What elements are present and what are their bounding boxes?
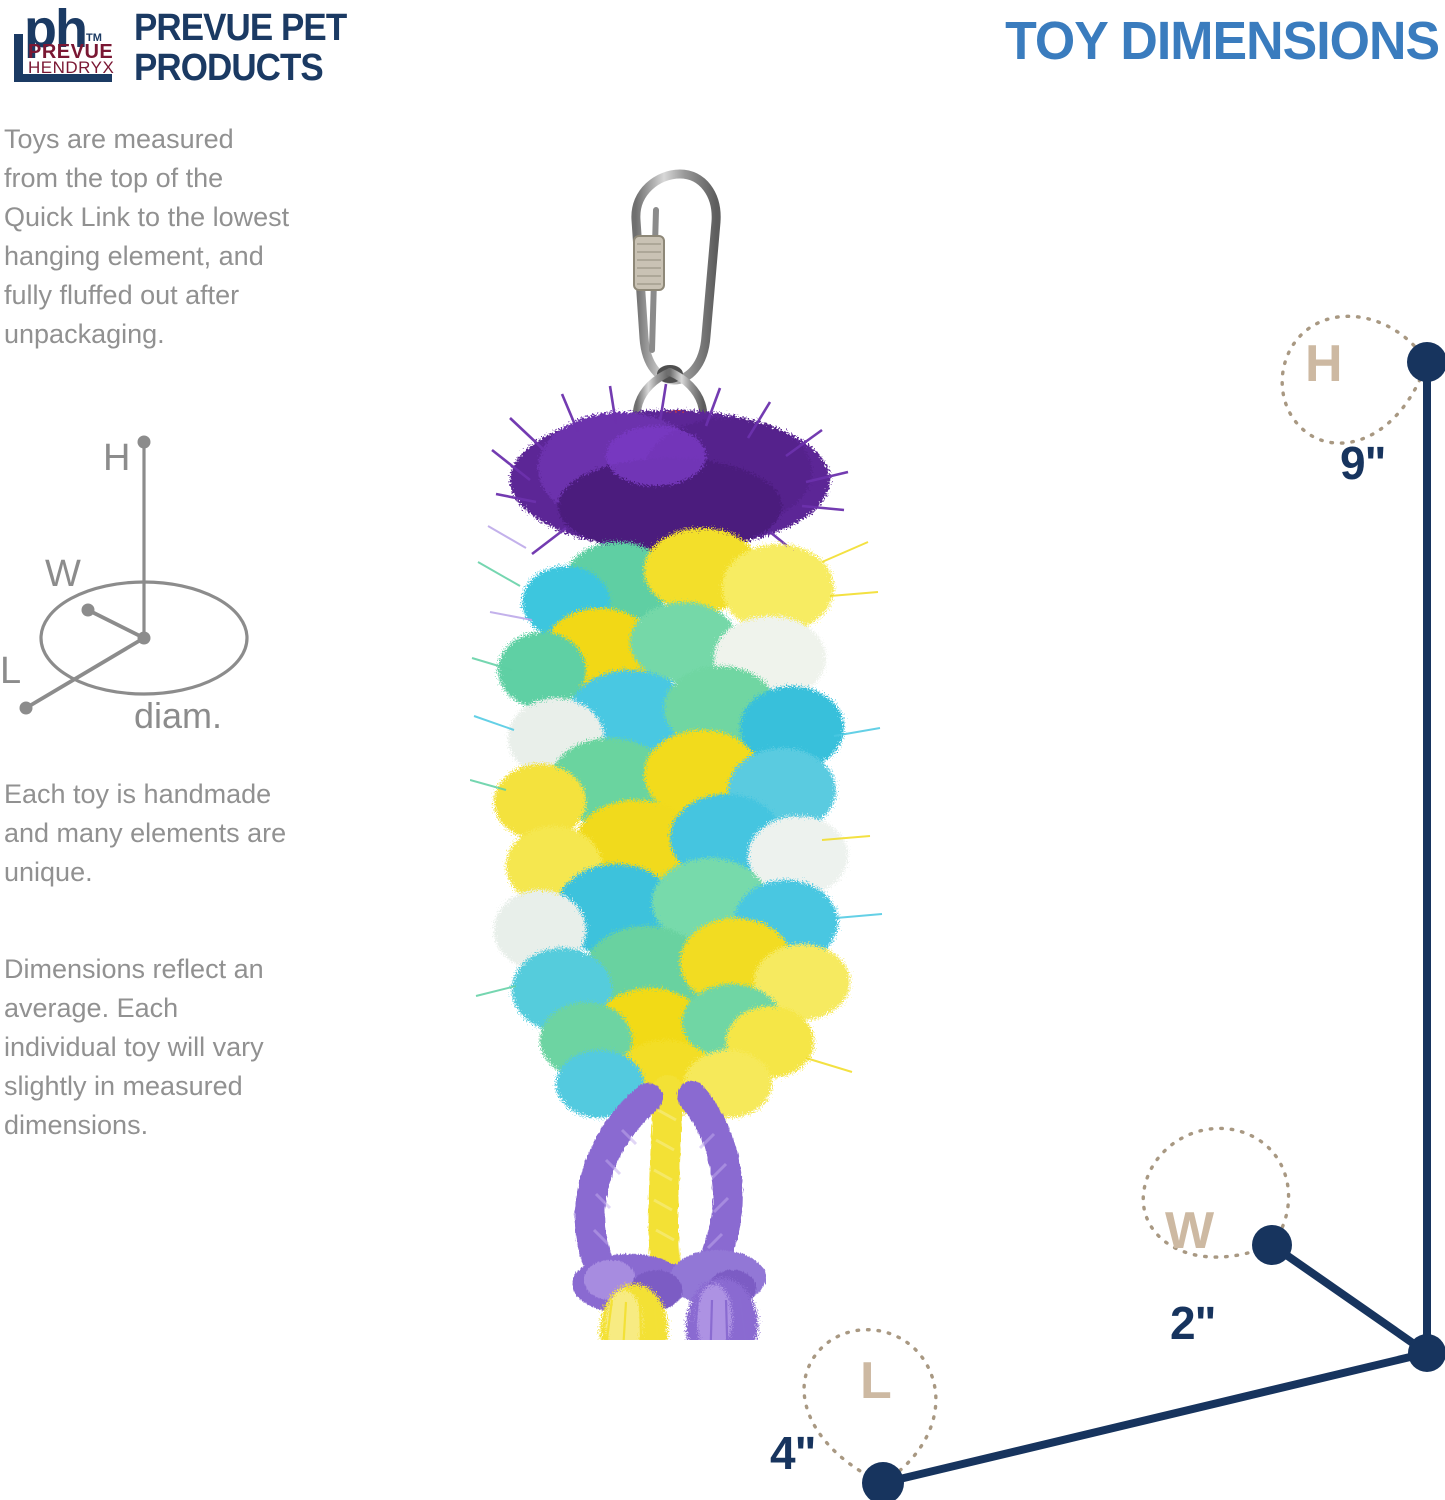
height-pin-outline xyxy=(1282,316,1427,443)
length-value: 4" xyxy=(770,1430,815,1476)
schematic-height-endpoint xyxy=(138,436,151,449)
yellow-rope xyxy=(663,1090,668,1270)
brand-name-line2: PRODUCTS xyxy=(134,48,346,88)
dimension-diagram: H W L 9" 2" 4" xyxy=(700,280,1445,1500)
width-endpoint-dot xyxy=(1252,1225,1292,1265)
handmade-note: Each toy is handmade and many elements a… xyxy=(0,775,292,892)
schematic-label-diam: diam. xyxy=(134,695,222,736)
logo-hendryx-text: HENDRYX xyxy=(28,59,114,76)
hwl-schematic-diagram: H W L diam. xyxy=(0,420,280,740)
schematic-origin-point xyxy=(138,632,151,645)
width-pin-letter: W xyxy=(1165,1205,1214,1257)
schematic-width-endpoint xyxy=(82,604,95,617)
length-line xyxy=(883,1353,1427,1483)
schematic-length-endpoint xyxy=(20,702,33,715)
height-endpoint-dot xyxy=(1407,342,1445,382)
corner-vertex-dot xyxy=(1408,1334,1445,1372)
header: ph TM PREVUE HENDRYX PREVUE PET PRODUCTS… xyxy=(0,0,1445,100)
dimension-lines-svg xyxy=(700,280,1445,1500)
brand-name-line1: PREVUE PET xyxy=(134,8,346,48)
logo-mark: ph TM PREVUE HENDRYX xyxy=(14,6,112,82)
length-pin-letter: L xyxy=(860,1355,892,1407)
width-value: 2" xyxy=(1170,1300,1215,1346)
brand-logo: ph TM PREVUE HENDRYX PREVUE PET PRODUCTS xyxy=(14,6,424,86)
schematic-label-w: W xyxy=(45,553,81,595)
measurement-note: Toys are measured from the top of the Qu… xyxy=(0,120,292,354)
schematic-label-l: L xyxy=(0,650,21,692)
schematic-label-h: H xyxy=(103,437,130,479)
height-pin-letter: H xyxy=(1305,338,1343,390)
average-note: Dimensions reflect an average. Each indi… xyxy=(0,950,292,1145)
brand-name: PREVUE PET PRODUCTS xyxy=(134,8,346,88)
schematic-width-line xyxy=(88,610,144,638)
page-title: TOY DIMENSIONS xyxy=(1005,12,1439,70)
height-value: 9" xyxy=(1340,440,1385,486)
purple-rope-left xyxy=(590,1098,648,1276)
width-line xyxy=(1272,1245,1427,1353)
length-endpoint-dot xyxy=(862,1462,904,1500)
